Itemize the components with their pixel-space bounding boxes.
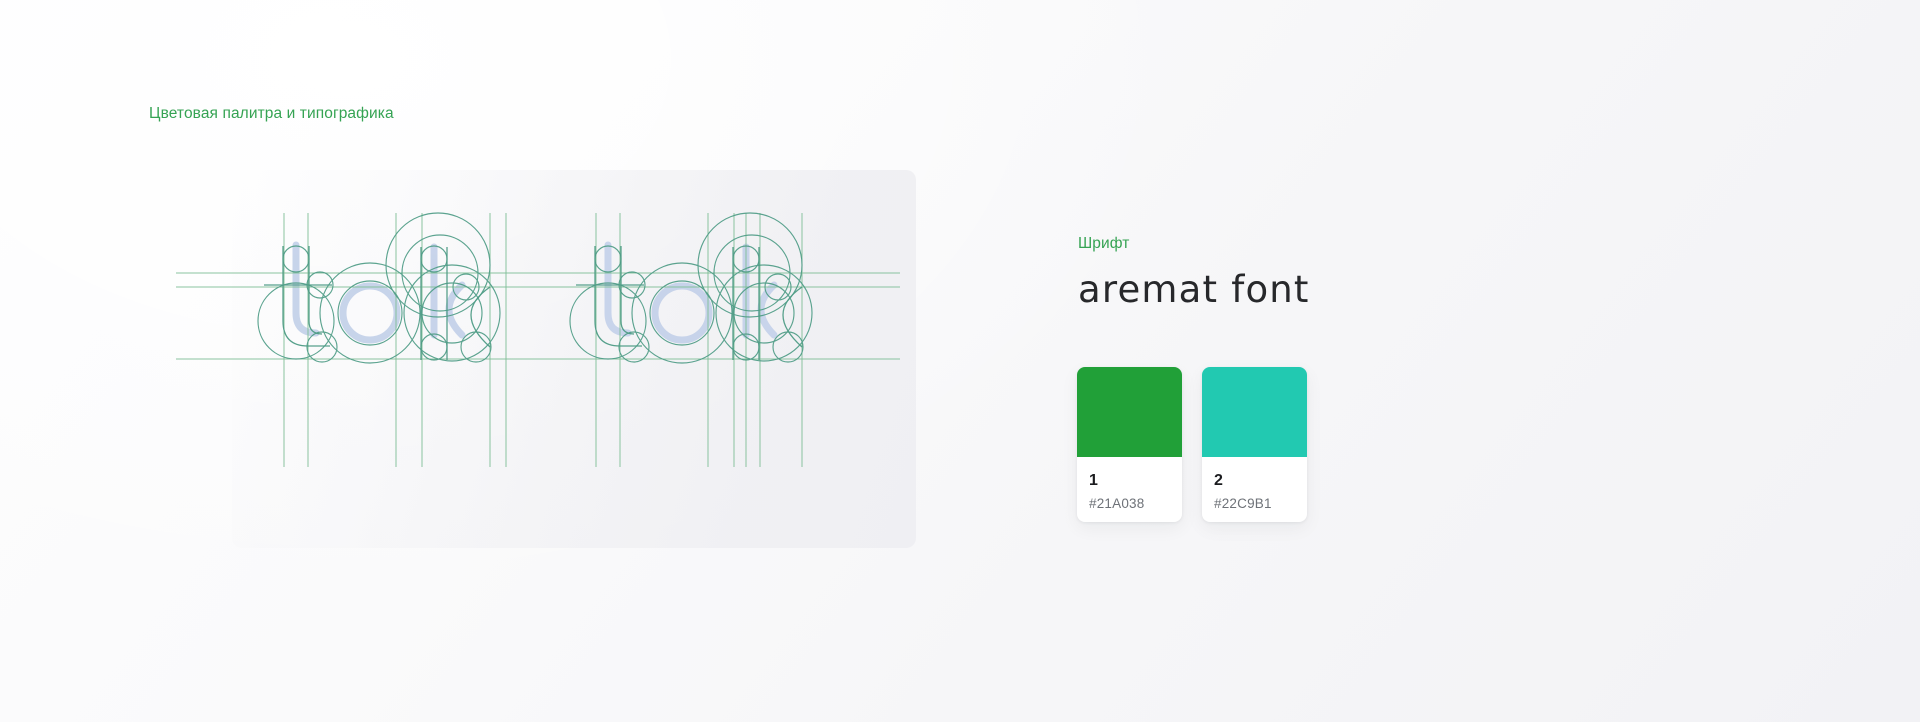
swatch-index: 2 (1214, 471, 1295, 490)
swatch-color-chip (1077, 367, 1182, 457)
swatch-color-chip (1202, 367, 1307, 457)
typography-label: Шрифт (1078, 234, 1310, 254)
color-palette: 1 #21A038 2 #22C9B1 (1077, 367, 1307, 522)
style-guide-page: Цветовая палитра и типографика (0, 0, 1920, 722)
swatch-info: 2 #22C9B1 (1202, 457, 1307, 512)
swatch-card[interactable]: 1 #21A038 (1077, 367, 1182, 522)
font-specimen: aremat font (1078, 268, 1310, 312)
section-title: Цветовая палитра и типографика (149, 104, 394, 124)
swatch-hex-value: #22C9B1 (1214, 495, 1295, 512)
swatch-info: 1 #21A038 (1077, 457, 1182, 512)
swatch-hex-value: #21A038 (1089, 495, 1170, 512)
swatch-index: 1 (1089, 471, 1170, 490)
logo-construction-panel (232, 170, 916, 548)
swatch-card[interactable]: 2 #22C9B1 (1202, 367, 1307, 522)
typography-block: Шрифт aremat font (1078, 234, 1310, 312)
